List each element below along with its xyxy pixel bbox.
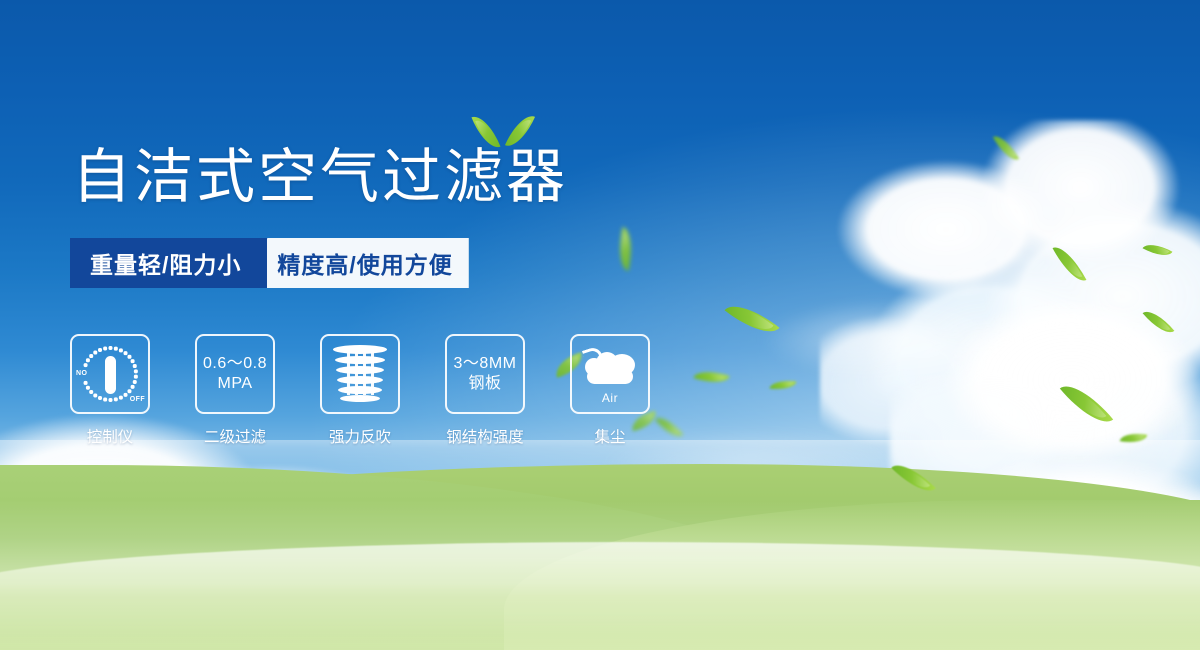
- steel-plate-text-icon: 3～8MM 钢板: [454, 354, 517, 393]
- foreground-haze: [0, 500, 1200, 650]
- dial-needle: [105, 356, 116, 394]
- cartridge-ring: [340, 395, 380, 402]
- feature-icon-box: 3～8MM 钢板: [445, 334, 525, 414]
- feature-label: 钢结构强度: [446, 425, 524, 447]
- feature-icon-box: 0.6～0.8 MPA: [195, 334, 275, 414]
- cartridge-rib: [355, 353, 358, 395]
- feature-icon-box: [320, 334, 400, 414]
- air-text-label: Air: [602, 391, 618, 405]
- cartridge-ring: [335, 356, 385, 364]
- cartridge-ring: [337, 376, 383, 384]
- dial-label-off: OFF: [130, 396, 145, 403]
- grass-field: [0, 440, 1200, 650]
- feature-item-dust-collection[interactable]: Air 集尘: [570, 334, 650, 447]
- pressure-value-line2: MPA: [203, 374, 267, 394]
- feature-icon-box: Air: [570, 334, 650, 414]
- feature-item-control-dial[interactable]: NO OFF 控制仪: [70, 334, 150, 447]
- pressure-text-icon: 0.6～0.8 MPA: [203, 354, 267, 393]
- pressure-value-line1: 0.6～0.8: [203, 354, 267, 374]
- cloud-base: [587, 369, 633, 384]
- feature-label: 二级过滤: [204, 425, 266, 447]
- feature-label: 集尘: [594, 425, 625, 447]
- subtitle-bar: 重量轻/阻力小 精度高/使用方便: [70, 238, 462, 288]
- page-title: 自洁式空气过滤器: [72, 148, 568, 207]
- cartridge-rib: [363, 353, 366, 395]
- wisp-cloud-1: [760, 300, 1020, 380]
- subtitle-right-tag: 精度高/使用方便: [249, 238, 468, 288]
- cartridge-ring: [336, 366, 384, 374]
- cartridge-ring: [338, 386, 382, 394]
- feature-item-secondary-filter[interactable]: 0.6～0.8 MPA 二级过滤: [195, 334, 275, 447]
- cartridge-rib: [347, 353, 350, 395]
- cartridge-ring: [333, 345, 387, 354]
- subtitle-left-tag: 重量轻/阻力小: [70, 238, 267, 288]
- feature-icon-box: NO OFF: [70, 334, 150, 414]
- product-banner: 自洁式空气过滤器 重量轻/阻力小 精度高/使用方便 NO OFF 控制仪 0.6…: [0, 0, 1200, 650]
- cartridge-rib: [371, 353, 374, 395]
- feature-label: 强力反吹: [329, 425, 391, 447]
- feature-item-backblow[interactable]: 强力反吹: [320, 334, 400, 447]
- feature-label: 控制仪: [87, 425, 134, 447]
- feature-item-steel-strength[interactable]: 3～8MM 钢板 钢结构强度: [445, 334, 525, 447]
- steel-thickness-line1: 3～8MM: [454, 354, 517, 374]
- dial-label-no: NO: [76, 370, 87, 377]
- control-dial-icon: NO OFF: [79, 343, 141, 405]
- feature-list: NO OFF 控制仪 0.6～0.8 MPA 二级过滤 强力反吹: [70, 334, 650, 447]
- cloud-air-icon: [581, 344, 639, 390]
- steel-thickness-line2: 钢板: [454, 374, 517, 394]
- filter-cartridge-icon: [332, 345, 388, 403]
